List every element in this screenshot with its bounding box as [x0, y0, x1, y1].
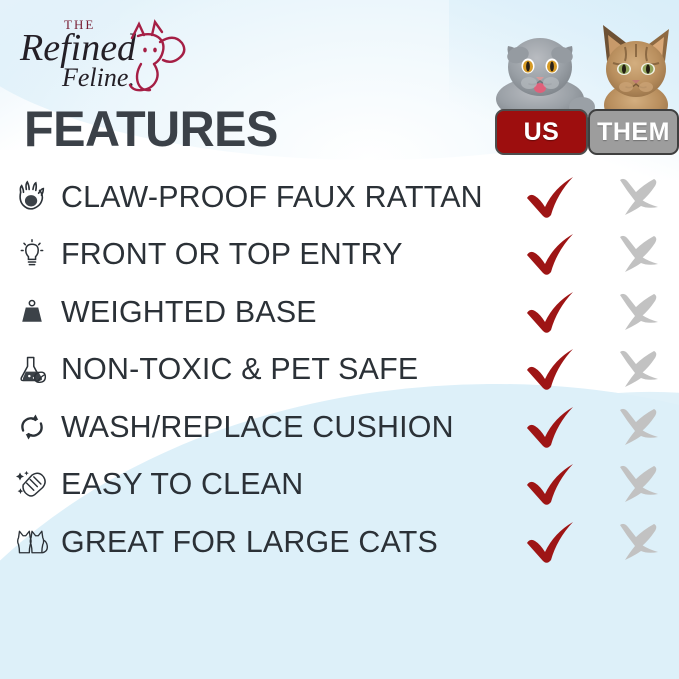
- two-cats-icon: [14, 524, 50, 560]
- flask-leaf-icon: [14, 351, 50, 387]
- feature-row: CLAW-PROOF FAUX RATTAN: [0, 168, 679, 226]
- feature-row: EASY TO CLEAN: [0, 456, 679, 514]
- logo-feline-text: Feline.: [61, 63, 135, 92]
- check-mark-icon: [523, 345, 579, 393]
- feature-label: GREAT FOR LARGE CATS: [61, 524, 438, 560]
- brown-tabby-cat-photo: [591, 19, 679, 117]
- logo-cat-eye-right: [153, 48, 157, 53]
- cat-paw-icon: [14, 179, 50, 215]
- check-mark-icon: [523, 230, 579, 278]
- check-mark-icon: [523, 460, 579, 508]
- page-title: FEATURES: [24, 104, 278, 154]
- feature-row: GREAT FOR LARGE CATS: [0, 513, 679, 571]
- wiping-hand-icon: [14, 466, 50, 502]
- refined-feline-logo: THE Refined Feline.: [14, 12, 194, 96]
- cross-mark-icon: [613, 347, 663, 391]
- feature-label: NON-TOXIC & PET SAFE: [61, 351, 418, 387]
- comparison-infographic: THE Refined Feline. FEATURES: [0, 0, 679, 679]
- cross-mark-icon: [613, 290, 663, 334]
- refresh-cycle-icon: [14, 409, 50, 445]
- them-column-button[interactable]: THEM: [588, 109, 679, 155]
- cross-mark-icon: [613, 232, 663, 276]
- feature-label: EASY TO CLEAN: [61, 466, 303, 502]
- cross-mark-icon: [613, 520, 663, 564]
- feature-label: CLAW-PROOF FAUX RATTAN: [61, 179, 483, 215]
- feature-label: WASH/REPLACE CUSHION: [61, 409, 454, 445]
- lightbulb-icon: [14, 236, 50, 272]
- weight-icon: [14, 294, 50, 330]
- logo-cat-eye-left: [143, 48, 147, 53]
- them-label: THEM: [597, 118, 670, 147]
- feature-label: WEIGHTED BASE: [61, 294, 317, 330]
- cross-mark-icon: [613, 405, 663, 449]
- check-mark-icon: [523, 403, 579, 451]
- check-mark-icon: [523, 173, 579, 221]
- check-mark-icon: [523, 288, 579, 336]
- feature-row: FRONT OR TOP ENTRY: [0, 226, 679, 284]
- cross-mark-icon: [613, 175, 663, 219]
- logo-cat-mark: [130, 22, 184, 90]
- gray-scottish-fold-cat-photo: [490, 25, 600, 117]
- check-mark-icon: [523, 518, 579, 566]
- us-column-button[interactable]: US: [495, 109, 588, 155]
- comparison-header: US THEM: [488, 20, 679, 155]
- us-label: US: [524, 118, 560, 147]
- feature-label: FRONT OR TOP ENTRY: [61, 236, 403, 272]
- feature-row: WASH/REPLACE CUSHION: [0, 398, 679, 456]
- feature-row: NON-TOXIC & PET SAFE: [0, 341, 679, 399]
- cross-mark-icon: [613, 462, 663, 506]
- feature-row: WEIGHTED BASE: [0, 283, 679, 341]
- features-list: CLAW-PROOF FAUX RATTAN: [0, 168, 679, 571]
